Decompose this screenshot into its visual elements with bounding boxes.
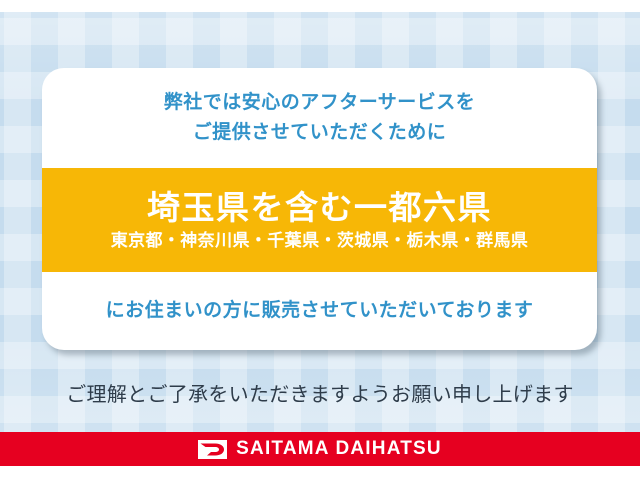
- card-intro-text: 弊社では安心のアフターサービスを ご提供させていただくために: [42, 68, 597, 168]
- message-card: 弊社では安心のアフターサービスを ご提供させていただくために 埼玉県を含む一都六…: [42, 68, 597, 350]
- top-white-strip: [0, 0, 640, 12]
- intro-line-1: 弊社では安心のアフターサービスを: [164, 90, 476, 116]
- notice-text: ご理解とご了承をいただきますようお願い申し上げます: [0, 378, 640, 407]
- prefecture-list: 東京都・神奈川県・千葉県・茨城県・栃木県・群馬県: [111, 232, 529, 251]
- outro-line: にお住まいの方に販売させていただいております: [106, 298, 534, 324]
- intro-line-2: ご提供させていただくために: [193, 120, 447, 146]
- brand-name: SAITAMA DAIHATSU: [236, 438, 442, 460]
- brand-footer: SAITAMA DAIHATSU: [0, 432, 640, 466]
- band-headline: 埼玉県を含む一都六県: [147, 190, 492, 226]
- highlight-band: 埼玉県を含む一都六県 東京都・神奈川県・千葉県・茨城県・栃木県・群馬県: [42, 168, 597, 272]
- promo-banner: 弊社では安心のアフターサービスを ご提供させていただくために 埼玉県を含む一都六…: [0, 0, 640, 480]
- daihatsu-d-mark-icon: [198, 440, 227, 459]
- card-outro-text: にお住まいの方に販売させていただいております: [42, 272, 597, 350]
- bottom-white-strip: [0, 466, 640, 480]
